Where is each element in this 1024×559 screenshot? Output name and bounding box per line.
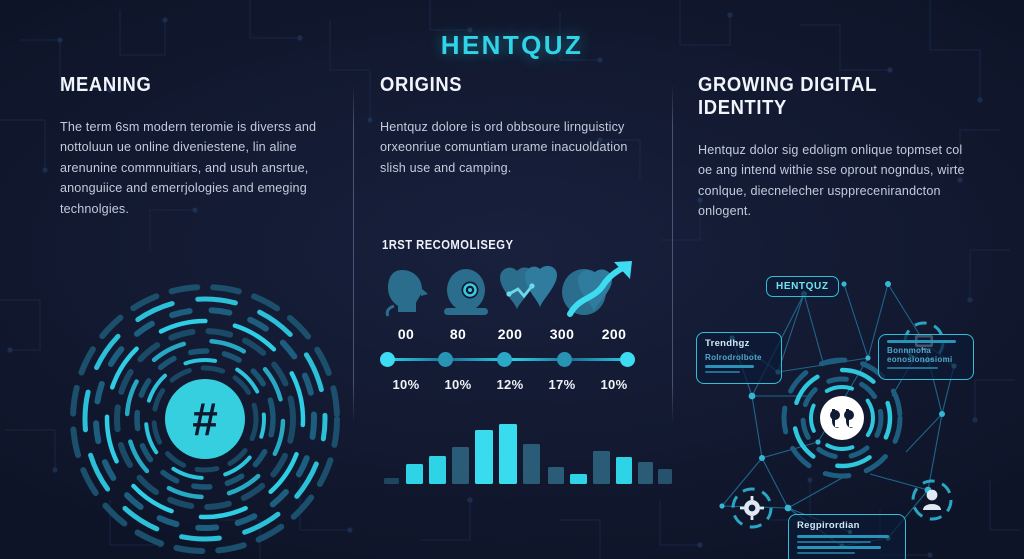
timeline-dot xyxy=(497,352,512,367)
bar xyxy=(384,478,399,484)
trend-arrow-icon xyxy=(562,261,632,315)
bubble-subtitle: Rolrodrolbote xyxy=(705,353,773,362)
head-profile-icon xyxy=(387,270,428,316)
timeline-number: 00 xyxy=(380,326,432,342)
hub-center-disc xyxy=(820,396,864,440)
timeline-dot xyxy=(620,352,635,367)
bar xyxy=(593,451,610,484)
network-tag-hentquz[interactable]: HENTQUZ xyxy=(766,276,839,297)
column-growing-digital-identity: GROWING DIGITAL IDENTITY Hentquz dolor s… xyxy=(698,74,976,222)
column-3-heading: GROWING DIGITAL IDENTITY xyxy=(698,74,954,120)
bubble-line xyxy=(705,371,740,374)
network-diagram: HENTQUZ Trendhgz Rolrodrolbote Bonnmoha … xyxy=(692,246,982,559)
timeline-dot xyxy=(380,352,395,367)
chart-mini-label: 1RST RECOMOLISEGY xyxy=(382,238,513,252)
column-2-heading: ORIGINS xyxy=(380,74,633,97)
bubble-line xyxy=(705,365,754,368)
bar xyxy=(548,467,564,484)
heart-pulse-icon xyxy=(500,266,557,310)
bubble-title: Regpirordian xyxy=(797,520,897,531)
column-meaning: MEANING The term 6sm modern teromie is d… xyxy=(60,74,340,219)
bar xyxy=(616,457,632,484)
column-origins: ORIGINS Hentquz dolore is ord obbsoure l… xyxy=(380,74,655,178)
concept-icon-row xyxy=(380,256,655,318)
timeline-numbers: 00 80 200 300 200 xyxy=(380,326,640,342)
network-bubble-right[interactable]: Bonnmoha eonosionosiomi xyxy=(878,334,974,380)
timeline-percent: 10% xyxy=(432,377,484,392)
timeline-percent: 10% xyxy=(588,377,640,392)
bubble-subtitle: Bonnmoha eonosionosiomi xyxy=(887,346,965,364)
bubble-line xyxy=(797,552,855,555)
bar xyxy=(429,456,446,484)
timeline-number: 300 xyxy=(536,326,588,342)
network-bubble-regpirordian[interactable]: Regpirordian xyxy=(788,514,906,559)
bubble-line xyxy=(797,546,881,549)
bubble-title: Trendhgz xyxy=(705,338,773,349)
timeline-percent: 12% xyxy=(484,377,536,392)
timeline-number: 200 xyxy=(588,326,640,342)
hashtag-glyph: # xyxy=(192,393,218,445)
timeline-dot xyxy=(438,352,453,367)
timeline-track xyxy=(380,349,640,371)
bubble-line xyxy=(797,541,871,544)
column-3-body: Hentquz dolor sig edoligm onlique topmse… xyxy=(698,140,976,222)
timeline-percents: 10% 10% 12% 17% 10% xyxy=(380,377,640,392)
bar xyxy=(658,469,672,484)
hashtag-rings-graphic: # xyxy=(55,269,355,559)
timeline-percent: 10% xyxy=(380,377,432,392)
bar-chart xyxy=(382,422,644,484)
network-bubble-trendhgz[interactable]: Trendhgz Rolrodrolbote xyxy=(696,332,782,384)
column-1-heading: MEANING xyxy=(60,74,318,97)
bar xyxy=(523,444,540,484)
bar xyxy=(406,464,423,484)
timeline-dot xyxy=(557,352,572,367)
bar xyxy=(452,447,469,484)
gear-icon xyxy=(740,496,764,520)
column-divider-2 xyxy=(672,84,673,424)
timeline-chart: 00 80 200 300 200 10% 10% 12% 17% 10% xyxy=(380,326,640,392)
bar xyxy=(475,430,493,484)
bar xyxy=(499,424,517,484)
person-camera-icon xyxy=(444,269,488,315)
timeline-number: 80 xyxy=(432,326,484,342)
timeline-percent: 17% xyxy=(536,377,588,392)
column-2-body: Hentquz dolore is ord obbsoure lirnguist… xyxy=(380,117,655,178)
bubble-line xyxy=(797,535,889,538)
bar xyxy=(638,462,653,484)
column-1-body: The term 6sm modern teromie is diverss a… xyxy=(60,117,340,219)
page-title: HENTQUZ xyxy=(0,30,1024,61)
bar xyxy=(570,474,587,484)
timeline-number: 200 xyxy=(484,326,536,342)
bubble-line xyxy=(887,367,938,370)
bubble-line xyxy=(887,340,956,343)
